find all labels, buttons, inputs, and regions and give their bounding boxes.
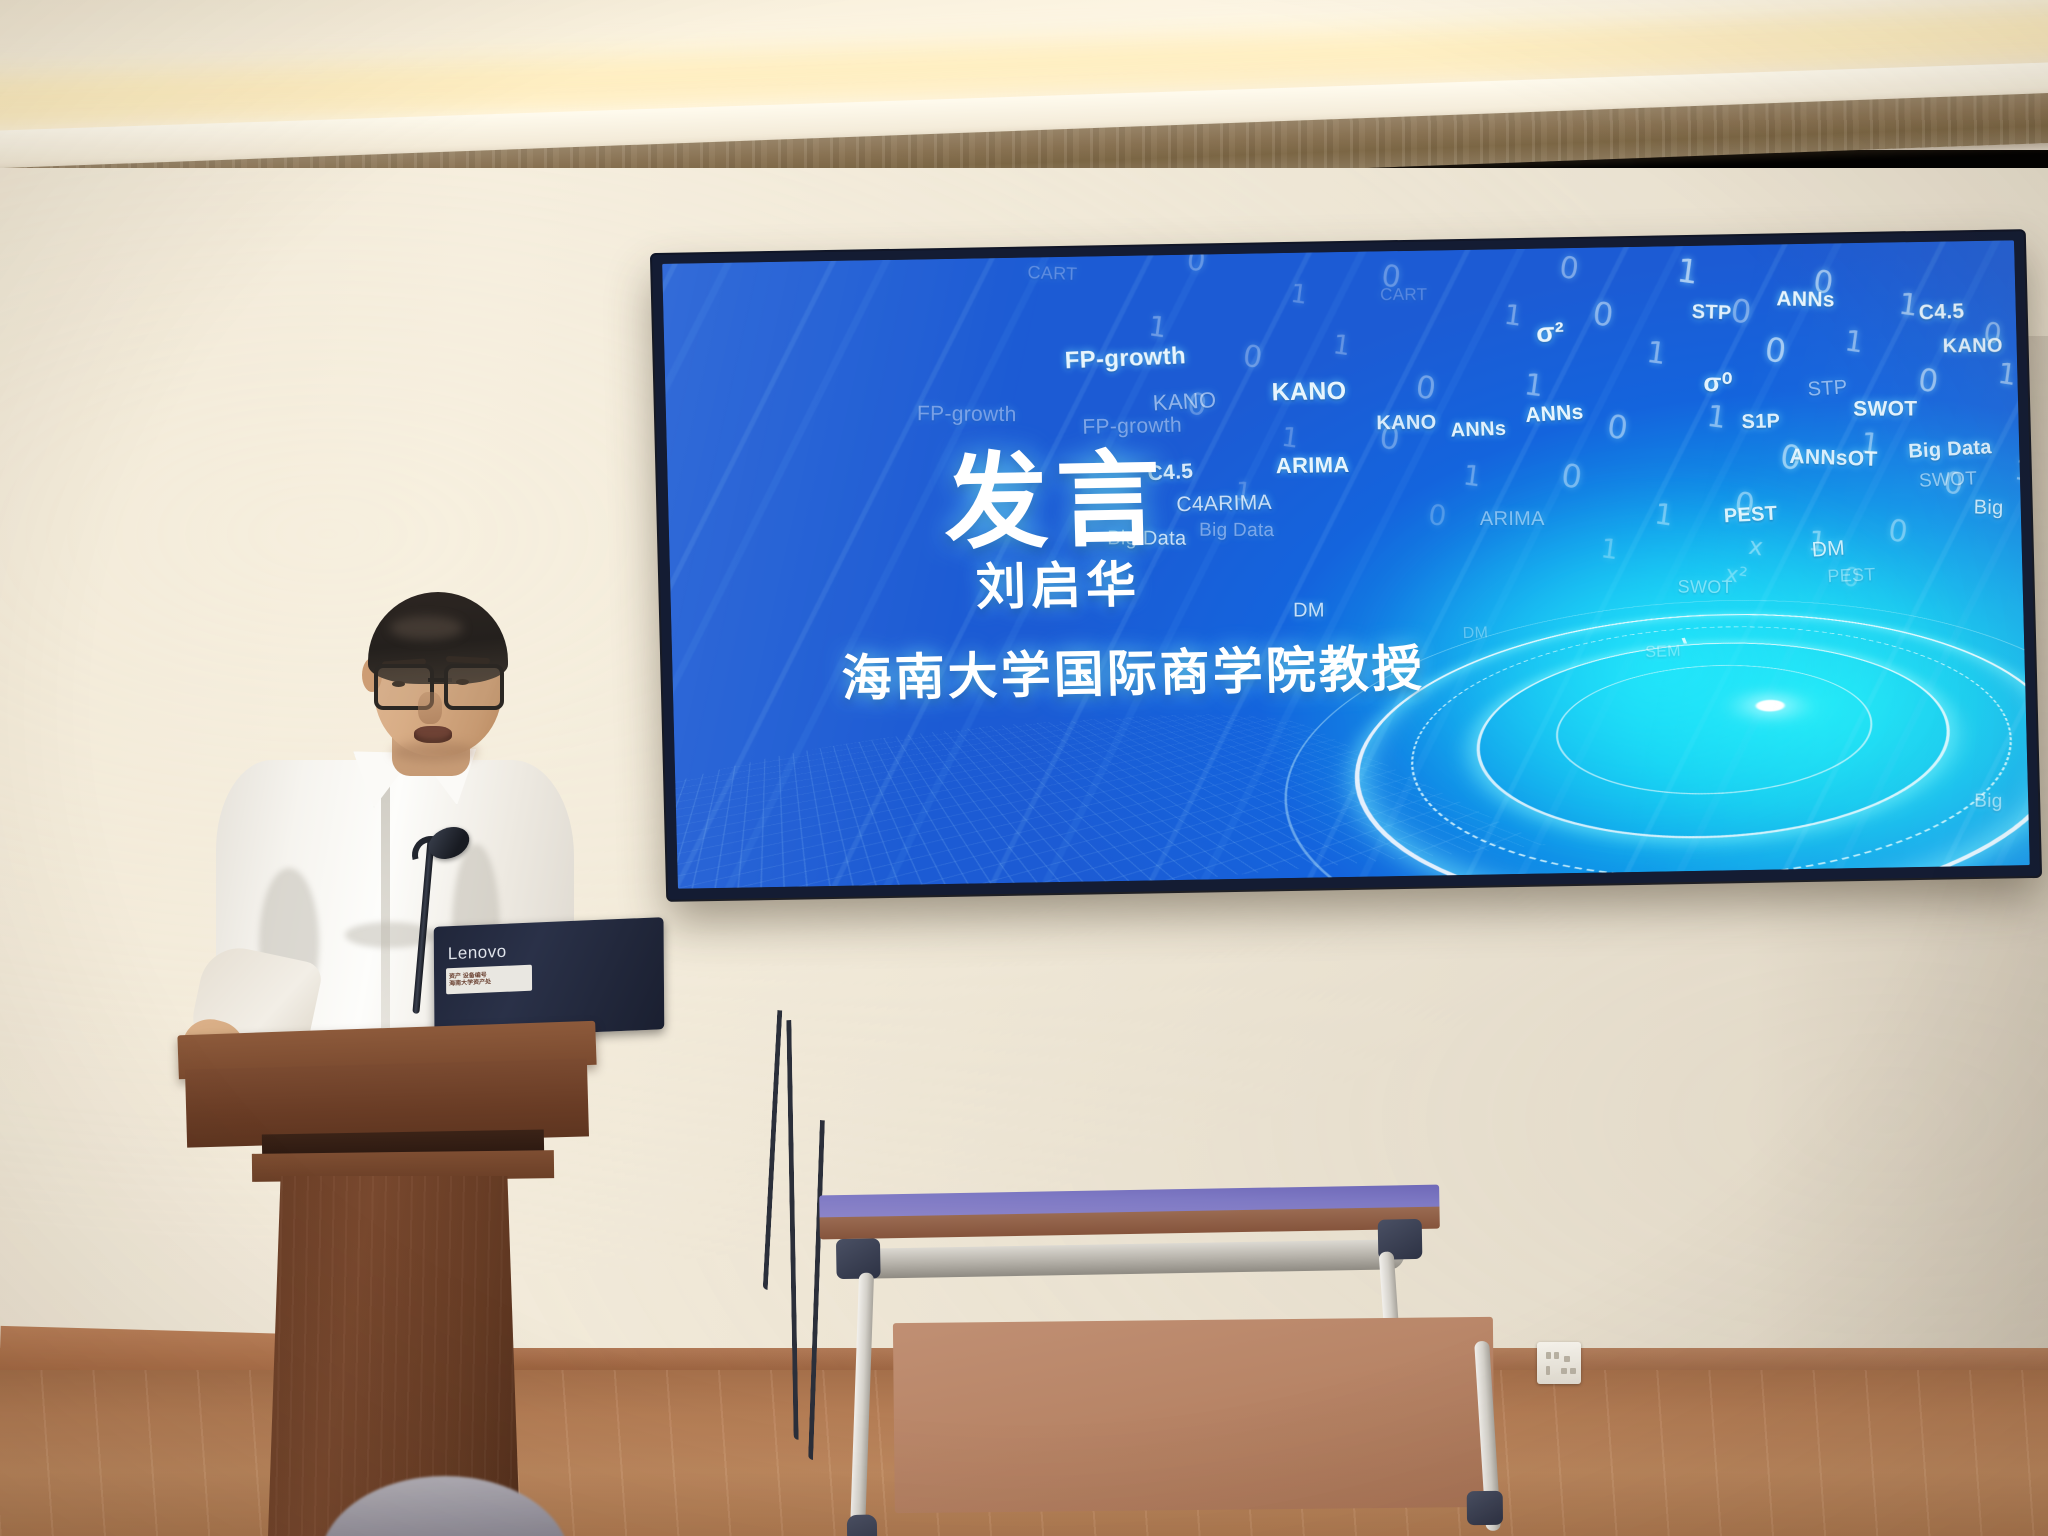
photo-scene: 0110100101010101010110101010101010101010… [0, 0, 2048, 1536]
binary-digit: 1 [1464, 240, 1488, 246]
speaker-mouth [414, 726, 452, 743]
presentation-slide: 0110100101010101010110101010101010101010… [662, 240, 2030, 888]
slide-presenter-name: 刘启华 [975, 545, 1142, 620]
asset-tag-sticker: 资产 设备编号 海南大学资产处 [446, 965, 532, 995]
speaker-nose [418, 692, 442, 724]
lenovo-laptop[interactable]: Lenovo 资产 设备编号 海南大学资产处 [434, 917, 665, 1039]
lenovo-logo: Lenovo [448, 942, 507, 964]
power-outlet [1537, 1342, 1581, 1384]
slide-text-block: 发言 刘启华 海南大学国际商学院教授 [662, 240, 2030, 888]
slide-affiliation: 海南大学国际商学院教授 [841, 629, 1426, 711]
led-wall-display[interactable]: 0110100101010101010110101010101010101010… [652, 231, 2040, 900]
folding-table-front [883, 1317, 1505, 1536]
chin-shadow [392, 742, 478, 762]
